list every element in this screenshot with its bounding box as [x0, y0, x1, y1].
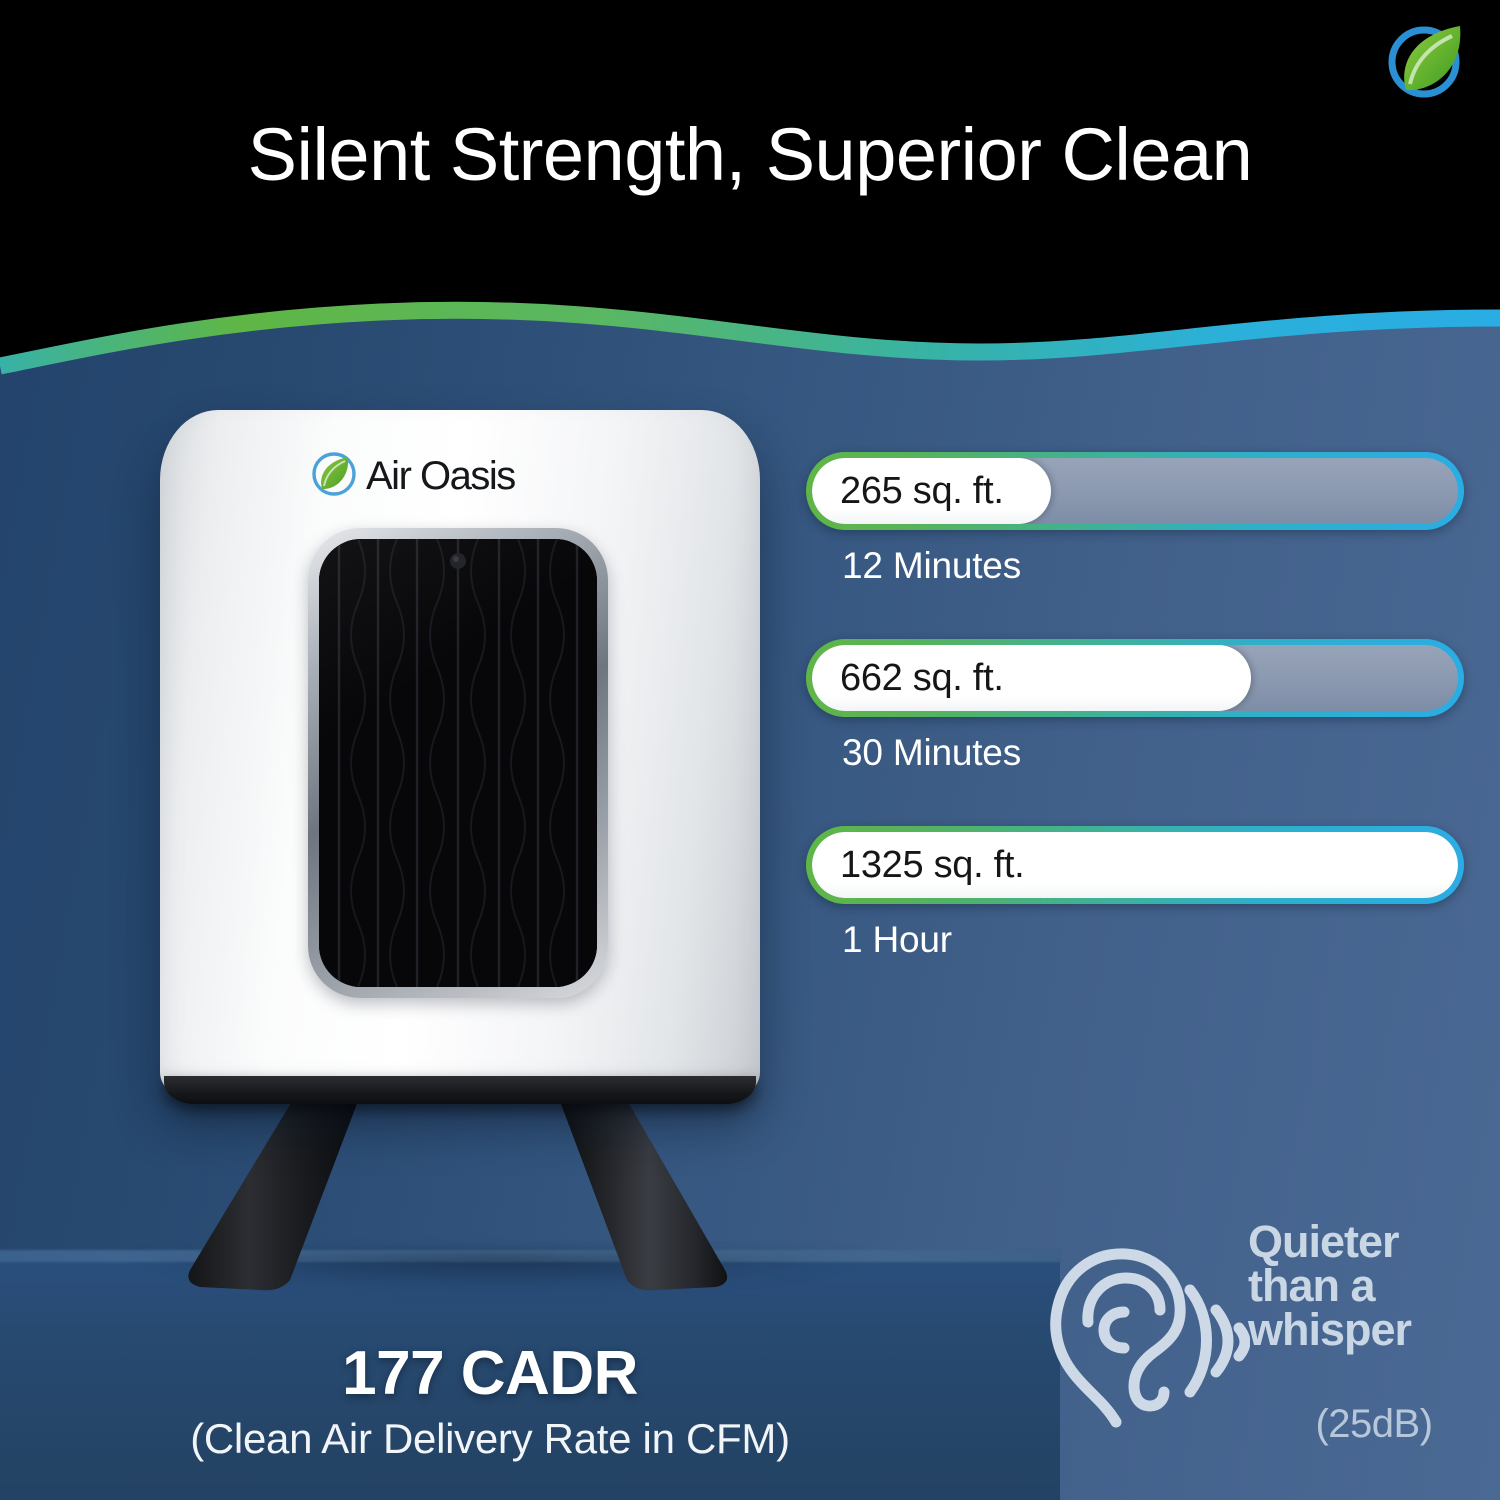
coverage-bar-track-2[interactable]: 662 sq. ft.	[806, 639, 1464, 717]
bar-caption: 1 Hour	[842, 919, 1466, 961]
bar-value-label: 265 sq. ft.	[840, 452, 1004, 530]
coverage-bars: 265 sq. ft. 12 Minutes 662 sq. ft. 30 Mi…	[806, 452, 1466, 1013]
coverage-bar-block: 265 sq. ft. 12 Minutes	[806, 452, 1466, 587]
air-intake-grille	[308, 528, 608, 998]
grille-mesh	[319, 539, 597, 987]
air-oasis-logo: Air Oasis	[310, 448, 600, 500]
cadr-headline: 177 CADR	[0, 1338, 980, 1409]
ear-with-sound-waves-icon	[1030, 1226, 1250, 1446]
svg-text:Air Oasis: Air Oasis	[366, 454, 515, 498]
coverage-bar-track-1[interactable]: 265 sq. ft.	[806, 452, 1464, 530]
device-base-trim	[164, 1076, 756, 1104]
page-title: Silent Strength, Superior Clean	[0, 112, 1500, 197]
infographic-canvas: Air Oasis	[0, 0, 1500, 1500]
noise-level-block: Quieter than a whisper (25dB)	[1030, 1216, 1500, 1466]
bar-value-label: 662 sq. ft.	[840, 639, 1004, 717]
cadr-subtitle: (Clean Air Delivery Rate in CFM)	[0, 1415, 980, 1463]
bar-caption: 30 Minutes	[842, 732, 1466, 774]
coverage-bar-track-3[interactable]: 1325 sq. ft.	[806, 826, 1464, 904]
bar-caption: 12 Minutes	[842, 545, 1466, 587]
bar-value-label: 1325 sq. ft.	[840, 826, 1024, 904]
cadr-block: 177 CADR (Clean Air Delivery Rate in CFM…	[0, 1338, 980, 1463]
noise-level-text: Quieter than a whisper	[1248, 1220, 1500, 1352]
noise-level-decibels: (25dB)	[1248, 1402, 1500, 1447]
air-purifier-device: Air Oasis	[150, 400, 770, 1300]
device-legs	[150, 1080, 770, 1300]
leaf-in-circle-icon	[1380, 14, 1476, 110]
coverage-bar-block: 662 sq. ft. 30 Minutes	[806, 639, 1466, 774]
coverage-bar-block: 1325 sq. ft. 1 Hour	[806, 826, 1466, 961]
